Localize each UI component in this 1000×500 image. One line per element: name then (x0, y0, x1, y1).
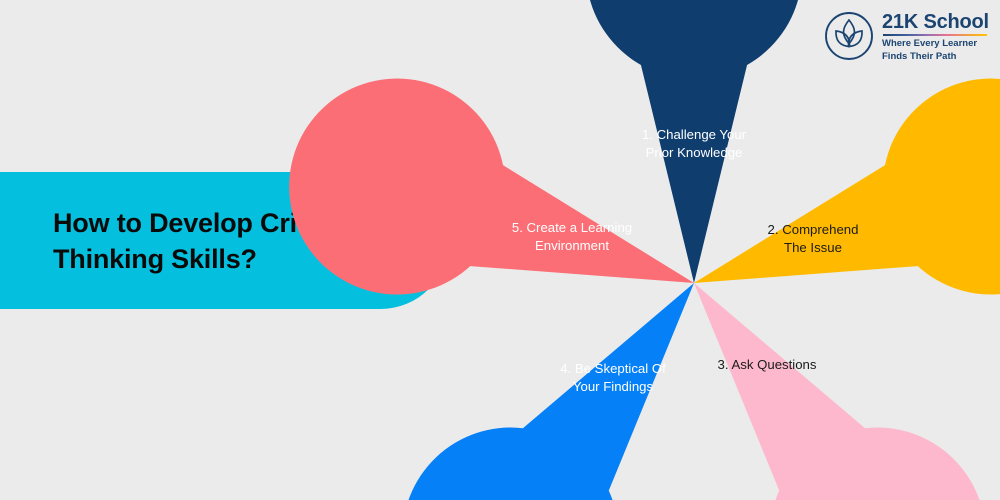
headline-line2: Thinking Skills? (53, 244, 257, 274)
logo-gradient-rule (883, 34, 987, 36)
logo-tagline-line1: Where Every Learner (882, 38, 989, 51)
petal-flower-diagram: 1. Challenge YourPrior Knowledge 2. Comp… (470, 50, 900, 470)
petal-shapes (261, 0, 1000, 500)
petal-flower-svg: 1. Challenge YourPrior Knowledge 2. Comp… (470, 50, 900, 470)
petal-3-label: 3. Ask Questions (718, 357, 817, 372)
logo-name: 21K School (882, 11, 989, 33)
